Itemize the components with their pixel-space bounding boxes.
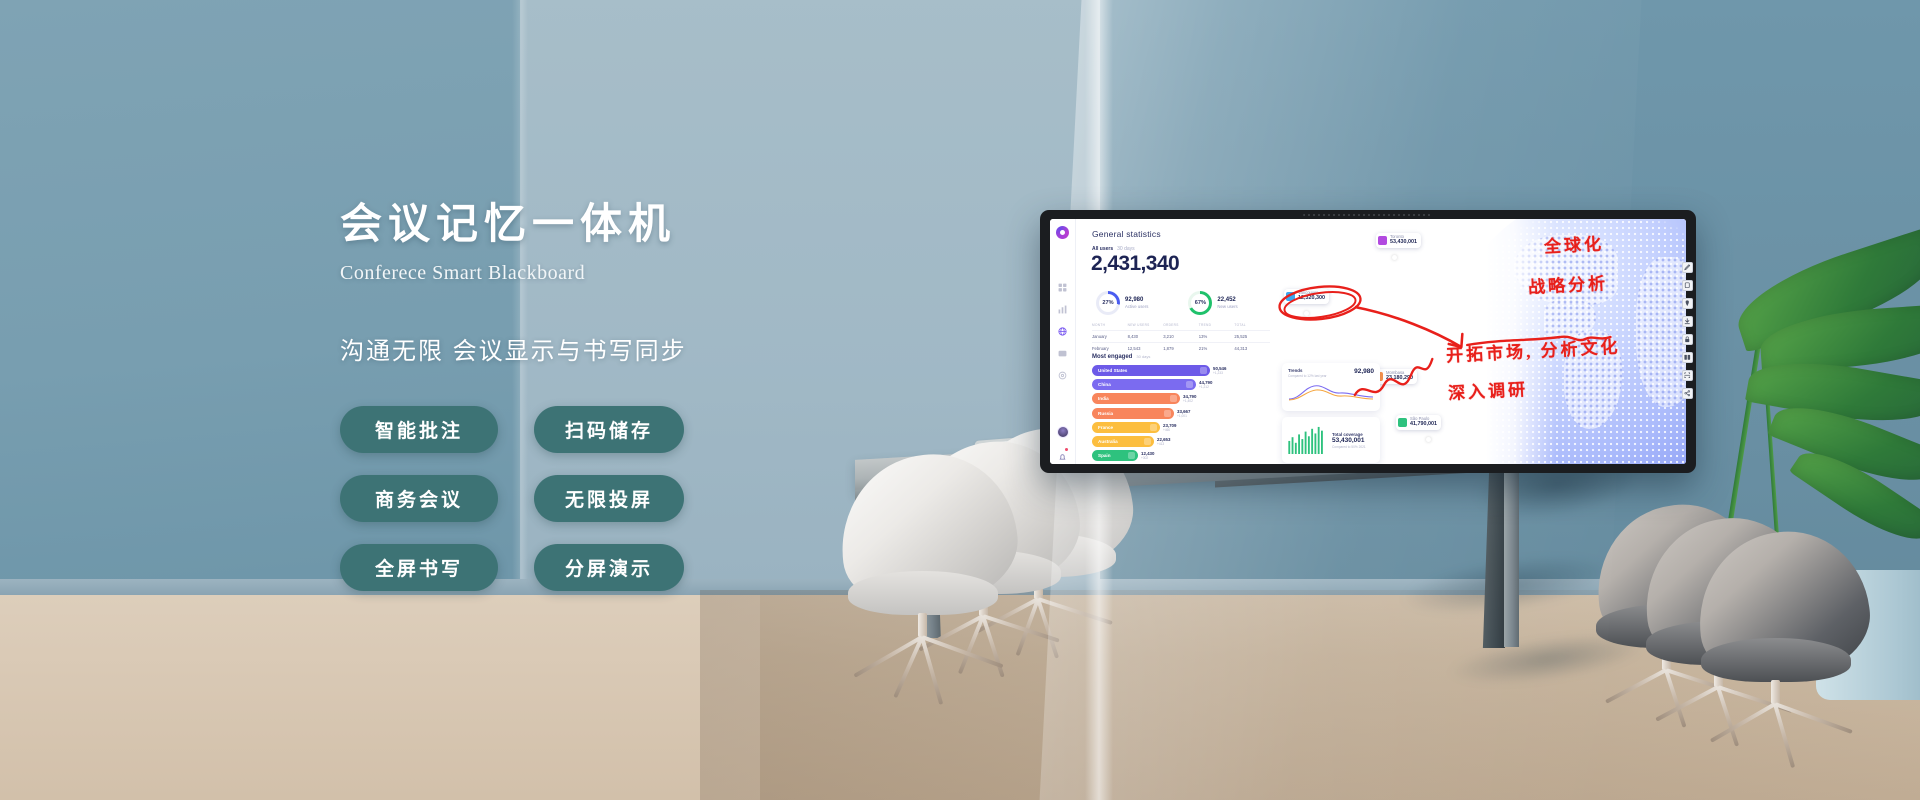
table-cell: 25,525 bbox=[1234, 334, 1270, 339]
sidebar-footer bbox=[1057, 426, 1069, 458]
wallet-icon[interactable] bbox=[1058, 349, 1067, 358]
table-cell: 44,313 bbox=[1234, 346, 1270, 351]
marker-value: 23,180,290 bbox=[1386, 376, 1413, 381]
bar-delta: +460 bbox=[1163, 428, 1176, 432]
bar-country: France bbox=[1098, 425, 1113, 430]
pen-icon[interactable] bbox=[1682, 262, 1693, 273]
map-dot-vancouver bbox=[1304, 311, 1309, 316]
map-dot-sao-paulo bbox=[1426, 437, 1431, 442]
scan-icon[interactable] bbox=[1682, 370, 1693, 381]
feature-pill-list: 智能批注 扫码储存 商务会议 无限投屏 全屏书写 分屏演示 bbox=[340, 406, 780, 591]
flag-icon bbox=[1200, 367, 1207, 374]
coverage-bar-chart bbox=[1288, 426, 1326, 454]
annotation-line-4: 深入调研 bbox=[1447, 375, 1528, 404]
floor-left bbox=[0, 595, 760, 800]
map-marker-vancouver[interactable]: Vancouver 12,320,300 bbox=[1284, 289, 1329, 304]
list-item[interactable]: United States 50,546 +1,233 bbox=[1092, 365, 1292, 376]
engaged-bar-list: United States 50,546 +1,233 China 44,790… bbox=[1092, 365, 1292, 464]
bar-country: United States bbox=[1098, 368, 1127, 373]
bar-delta: +1,001 bbox=[1177, 414, 1190, 418]
engaged-title-text: Most engaged bbox=[1092, 354, 1132, 360]
map-marker-sao-paulo[interactable]: São Paulo 41,790,001 bbox=[1396, 415, 1441, 430]
feature-pill-qrsave[interactable]: 扫码储存 bbox=[534, 406, 684, 453]
table-header-cell: MONTH bbox=[1092, 323, 1128, 327]
engaged-period[interactable]: 30 days bbox=[1136, 354, 1150, 359]
display-screen[interactable]: Toronto 53,430,001 Vancouver 12,320,300 … bbox=[1050, 219, 1686, 464]
app-logo-icon bbox=[1056, 226, 1069, 239]
smart-blackboard-display[interactable]: Toronto 53,430,001 Vancouver 12,320,300 … bbox=[1040, 210, 1696, 473]
trend-line-chart bbox=[1288, 380, 1374, 402]
marker-icon-sao-paulo bbox=[1398, 418, 1407, 427]
table-row: February 12,543 1,879 21% 44,313 bbox=[1092, 342, 1270, 352]
map-dot-toronto bbox=[1392, 255, 1397, 260]
table-header-cell: NEW USERS bbox=[1128, 323, 1164, 327]
donut-percent: 67% bbox=[1195, 300, 1206, 306]
table-header-cell: TOTAL bbox=[1234, 323, 1270, 327]
list-item[interactable]: Russia 33,667 +1,001 bbox=[1092, 408, 1292, 419]
hero-tagline: 沟通无限 会议显示与书写同步 bbox=[340, 331, 780, 366]
table-header-cell: ORDERS bbox=[1163, 323, 1199, 327]
feature-pill-splitview[interactable]: 分屏演示 bbox=[534, 544, 684, 591]
bar-country: China bbox=[1098, 382, 1111, 387]
list-item[interactable]: India 34,790 +1,402 bbox=[1092, 393, 1292, 404]
dashboard-icon[interactable] bbox=[1058, 283, 1067, 292]
eraser-icon[interactable] bbox=[1682, 280, 1693, 291]
marker-icon-toronto bbox=[1378, 236, 1387, 245]
list-item[interactable]: Spain 12,430 +302 bbox=[1092, 450, 1292, 461]
marker-value: 41,790,001 bbox=[1410, 422, 1437, 427]
app-sidebar bbox=[1050, 219, 1076, 464]
settings-icon[interactable] bbox=[1058, 371, 1067, 380]
table-row: January 8,430 3,210 13% 25,525 bbox=[1092, 330, 1270, 340]
trends-card[interactable]: Trends Compared to 12% last year 92,980 bbox=[1282, 363, 1380, 411]
avatar[interactable] bbox=[1057, 426, 1069, 438]
marker-value: 12,320,300 bbox=[1298, 296, 1325, 301]
dashboard-main: Toronto 53,430,001 Vancouver 12,320,300 … bbox=[1076, 219, 1686, 464]
feature-pill-cast[interactable]: 无限投屏 bbox=[534, 475, 684, 522]
bar-country: Australia bbox=[1098, 439, 1118, 444]
flag-icon bbox=[1144, 438, 1151, 445]
page-title: 会议记忆一体机 bbox=[340, 200, 780, 250]
bar-country: Spain bbox=[1098, 453, 1111, 458]
table-cell: 13% bbox=[1199, 334, 1235, 339]
bar-delta: +1,233 bbox=[1213, 371, 1226, 375]
donut-percent: 27% bbox=[1102, 300, 1113, 306]
donut-new-users: 67% 22,452 New users bbox=[1188, 291, 1237, 315]
annotation-line-2: 战略分析 bbox=[1527, 269, 1608, 298]
panel-title: General statistics bbox=[1092, 229, 1161, 239]
card-subtitle: Compared to 12% last year bbox=[1288, 374, 1327, 378]
donut-value: 92,980 bbox=[1125, 297, 1148, 303]
sidebar-nav bbox=[1058, 283, 1067, 380]
donut-ring-active: 27% bbox=[1096, 291, 1120, 315]
annotation-line-1: 全球化 bbox=[1543, 229, 1604, 257]
most-engaged-title: Most engaged30 days bbox=[1092, 354, 1150, 360]
flag-icon bbox=[1170, 395, 1177, 402]
flag-icon bbox=[1150, 424, 1157, 431]
globe-icon[interactable] bbox=[1058, 327, 1067, 336]
bar-delta: +302 bbox=[1141, 456, 1154, 460]
table-cell: 3,210 bbox=[1163, 334, 1199, 339]
marker-value: 53,430,001 bbox=[1390, 240, 1417, 245]
donut-label: Active users bbox=[1125, 304, 1148, 309]
card-value: 53,430,001 bbox=[1332, 437, 1366, 444]
table-leg-right-front bbox=[1504, 472, 1519, 647]
table-cell: 1,879 bbox=[1163, 346, 1199, 351]
table-header-cell: TREND bbox=[1199, 323, 1235, 327]
all-users-value: 2,431,340 bbox=[1091, 252, 1179, 276]
feature-pill-fullwrite[interactable]: 全屏书写 bbox=[340, 544, 498, 591]
lock-icon[interactable] bbox=[1682, 334, 1693, 345]
donut-group: 27% 92,980 Active users 67% 22,452 New u… bbox=[1096, 291, 1238, 315]
bar-delta: +413 bbox=[1157, 442, 1170, 446]
download-icon[interactable] bbox=[1682, 316, 1693, 327]
list-item[interactable]: China 44,790 +1,212 bbox=[1092, 379, 1292, 390]
notification-bell-icon[interactable] bbox=[1058, 449, 1067, 458]
table-cell: January bbox=[1092, 334, 1128, 339]
table-cell: 8,430 bbox=[1128, 334, 1164, 339]
total-coverage-card[interactable]: Total coverage 53,430,001 Compared to 50… bbox=[1282, 417, 1380, 463]
stats-table: MONTH NEW USERS ORDERS TREND TOTAL Janua… bbox=[1092, 323, 1270, 351]
map-marker-toronto[interactable]: Toronto 53,430,001 bbox=[1376, 233, 1421, 248]
donut-label: New users bbox=[1217, 304, 1237, 309]
flag-icon bbox=[1128, 452, 1135, 459]
flag-icon bbox=[1186, 381, 1193, 388]
card-subtitle: Compared to 50% 2021 bbox=[1332, 445, 1366, 449]
continent-europe-africa bbox=[1636, 257, 1686, 407]
page-subtitle: Conferece Smart Blackboard bbox=[340, 262, 780, 285]
pin-icon[interactable] bbox=[1682, 298, 1693, 309]
table-cell: February bbox=[1092, 346, 1128, 351]
chart-icon[interactable] bbox=[1058, 305, 1067, 314]
share-icon[interactable] bbox=[1682, 388, 1693, 399]
feature-pill-meeting[interactable]: 商务会议 bbox=[340, 475, 498, 522]
donut-active-users: 27% 92,980 Active users bbox=[1096, 291, 1148, 315]
flag-icon bbox=[1164, 410, 1171, 417]
bar-country: Russia bbox=[1098, 411, 1113, 416]
card-value: 92,980 bbox=[1354, 368, 1374, 375]
list-item[interactable]: France 23,709 +460 bbox=[1092, 422, 1292, 433]
display-toolbar bbox=[1682, 262, 1693, 399]
table-cell: 12,543 bbox=[1128, 346, 1164, 351]
marker-icon-vancouver bbox=[1286, 292, 1295, 301]
donut-ring-new: 67% bbox=[1188, 291, 1212, 315]
feature-pill-annotate[interactable]: 智能批注 bbox=[340, 406, 498, 453]
bar-delta: +1,212 bbox=[1199, 385, 1212, 389]
table-cell: 21% bbox=[1199, 346, 1235, 351]
bar-delta: +1,402 bbox=[1183, 399, 1196, 403]
card-title: Total coverage bbox=[1332, 432, 1366, 437]
list-item[interactable]: Australia 22,653 +413 bbox=[1092, 436, 1292, 447]
bar-country: India bbox=[1098, 396, 1109, 401]
grid-icon[interactable] bbox=[1682, 352, 1693, 363]
hero-copy: 会议记忆一体机 Conferece Smart Blackboard 沟通无限 … bbox=[340, 200, 780, 591]
donut-value: 22,452 bbox=[1217, 297, 1237, 303]
table-header-row: MONTH NEW USERS ORDERS TREND TOTAL bbox=[1092, 323, 1270, 327]
bar-value: 33,667 bbox=[1177, 409, 1190, 414]
card-title: Trends bbox=[1288, 368, 1327, 373]
